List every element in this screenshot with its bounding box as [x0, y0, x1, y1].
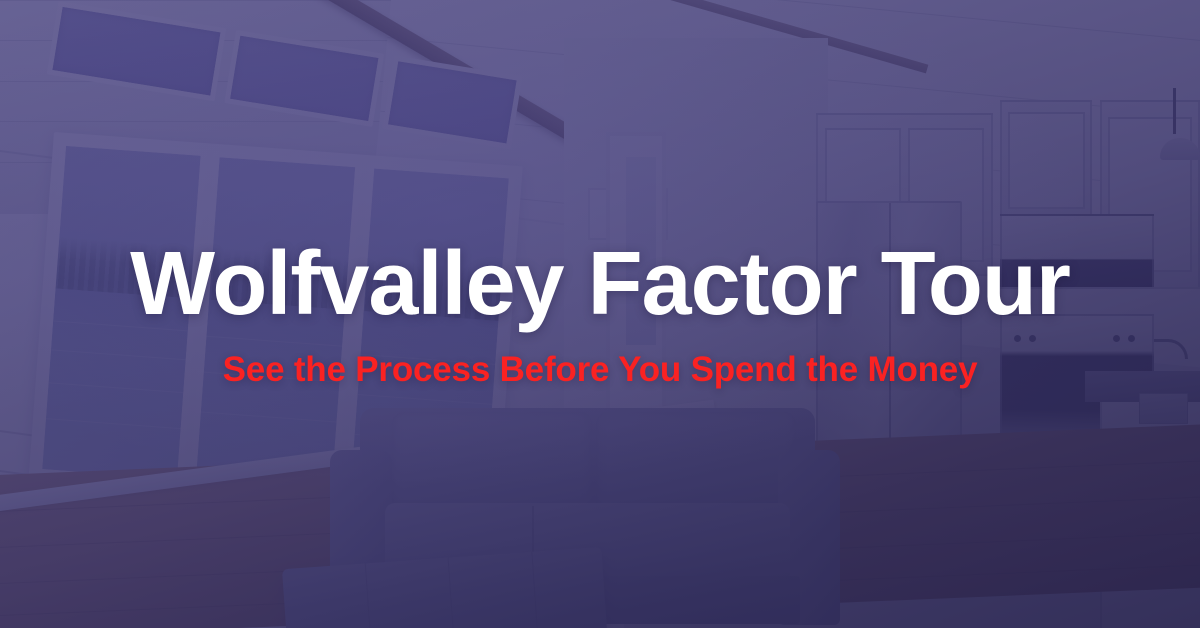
page-subtitle: See the Process Before You Spend the Mon… [223, 351, 978, 390]
banner-text-block: Wolfvalley Factor Tour See the Process B… [0, 0, 1200, 628]
hero-banner: Wolfvalley Factor Tour See the Process B… [0, 0, 1200, 628]
page-title: Wolfvalley Factor Tour [130, 239, 1070, 329]
